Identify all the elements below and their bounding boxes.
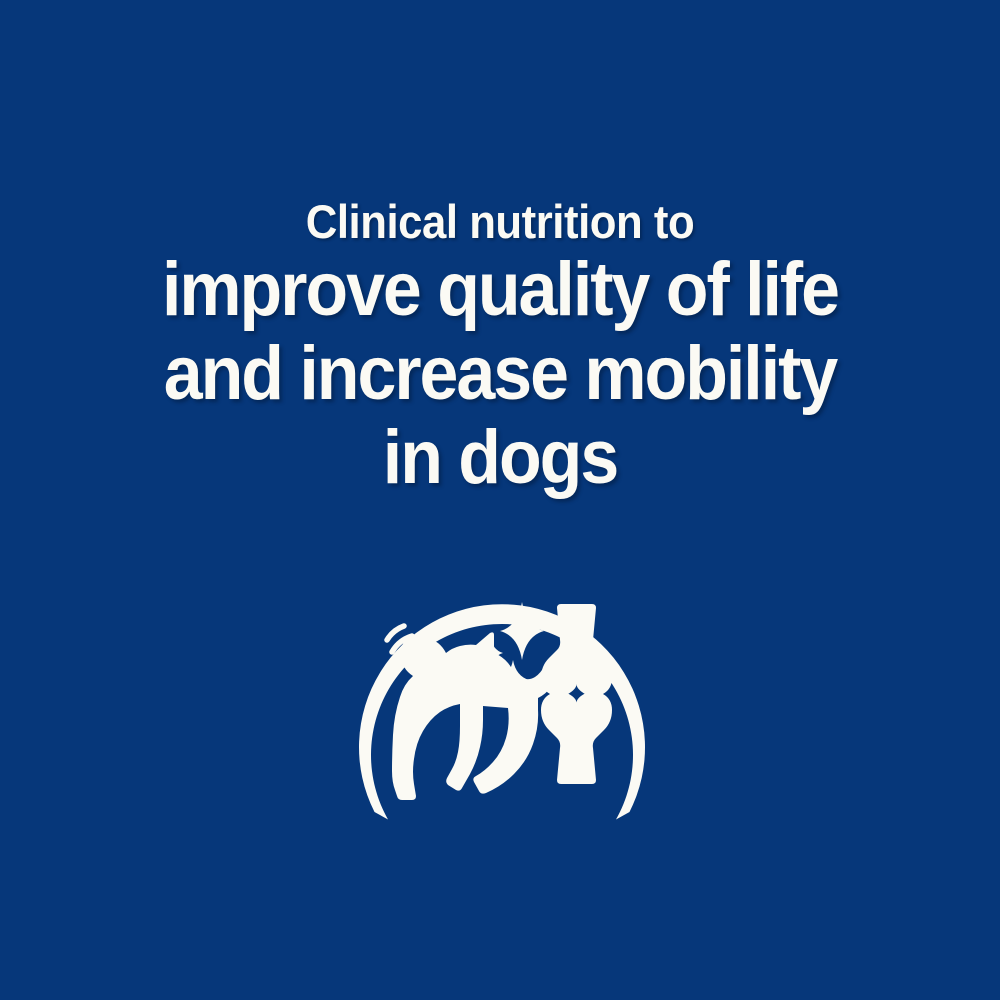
headline-line-3: in dogs xyxy=(40,416,960,500)
headline-line-2: and increase mobility xyxy=(40,332,960,416)
headline-block: Clinical nutrition to improve quality of… xyxy=(0,196,1000,500)
dog-mobility-joint-icon xyxy=(330,528,674,834)
play-bow-dog-icon xyxy=(387,626,558,800)
promo-poster: Clinical nutrition to improve quality of… xyxy=(0,0,1000,1000)
headline-eyebrow: Clinical nutrition to xyxy=(35,196,965,248)
headline-line-1: improve quality of life xyxy=(40,248,960,332)
